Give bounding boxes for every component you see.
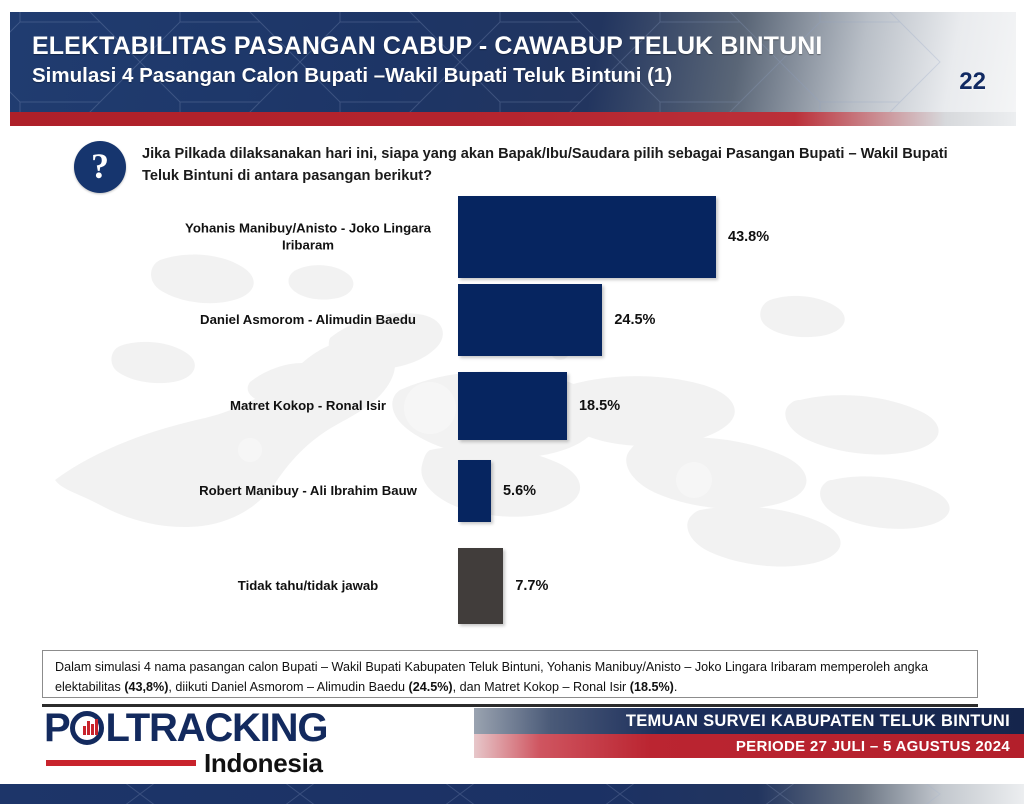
bar bbox=[458, 196, 716, 278]
chart-row: Matret Kokop - Ronal Isir18.5% bbox=[0, 372, 1024, 440]
bar-category-label: Matret Kokop - Ronal Isir bbox=[158, 398, 458, 415]
header-text-block: ELEKTABILITAS PASANGAN CABUP - CAWABUP T… bbox=[32, 32, 822, 89]
bar-chart: Yohanis Manibuy/Anisto - Joko Lingara Ir… bbox=[0, 196, 1024, 646]
note-part-2: , diikuti Daniel Asmorom – Alimudin Baed… bbox=[168, 680, 408, 694]
bar bbox=[458, 372, 567, 440]
footer-period-bar: PERIODE 27 JULI – 5 AGUSTUS 2024 bbox=[474, 734, 1024, 758]
logo-wordmark-rest: LTRACKING bbox=[105, 708, 327, 748]
question-mark-icon: ? bbox=[74, 141, 126, 193]
logo-chart-circle-icon bbox=[70, 711, 104, 745]
chart-row: Daniel Asmorom - Alimudin Baedu24.5% bbox=[0, 284, 1024, 356]
slide-header: ELEKTABILITAS PASANGAN CABUP - CAWABUP T… bbox=[10, 12, 1016, 112]
logo-wordmark: PLTRACKING bbox=[44, 708, 374, 748]
bar-value-label: 43.8% bbox=[728, 229, 769, 245]
footer-survey-title: TEMUAN SURVEI KABUPATEN TELUK BINTUNI bbox=[626, 712, 1010, 731]
footer-survey-period: PERIODE 27 JULI – 5 AGUSTUS 2024 bbox=[736, 738, 1010, 755]
bottom-strip bbox=[0, 784, 1024, 804]
header-red-divider bbox=[10, 112, 1016, 126]
bar-category-label: Daniel Asmorom - Alimudin Baedu bbox=[158, 312, 458, 329]
bar-category-label: Yohanis Manibuy/Anisto - Joko Lingara Ir… bbox=[158, 221, 458, 254]
note-value-1: (43,8%) bbox=[124, 680, 168, 694]
page-number: 22 bbox=[959, 68, 986, 96]
bar-value-label: 7.7% bbox=[515, 578, 548, 594]
bar-value-label: 24.5% bbox=[614, 312, 655, 328]
logo-subline: Indonesia bbox=[44, 750, 374, 776]
bar bbox=[458, 284, 602, 356]
page-title: ELEKTABILITAS PASANGAN CABUP - CAWABUP T… bbox=[32, 32, 822, 60]
slide-canvas: ELEKTABILITAS PASANGAN CABUP - CAWABUP T… bbox=[0, 0, 1024, 804]
chart-row: Tidak tahu/tidak jawab7.7% bbox=[0, 548, 1024, 624]
bar-category-label: Tidak tahu/tidak jawab bbox=[158, 578, 458, 595]
summary-note-box: Dalam simulasi 4 nama pasangan calon Bup… bbox=[42, 650, 978, 698]
page-subtitle: Simulasi 4 Pasangan Calon Bupati –Wakil … bbox=[32, 64, 822, 89]
logo-indonesia-text: Indonesia bbox=[204, 750, 323, 776]
logo-letter-p: P bbox=[44, 708, 69, 748]
poltracking-logo: PLTRACKING Indonesia bbox=[44, 708, 374, 770]
chart-row: Yohanis Manibuy/Anisto - Joko Lingara Ir… bbox=[0, 196, 1024, 278]
bar-value-label: 5.6% bbox=[503, 483, 536, 499]
note-part-4: . bbox=[674, 680, 678, 694]
chart-row: Robert Manibuy - Ali Ibrahim Bauw5.6% bbox=[0, 460, 1024, 522]
question-text: Jika Pilkada dilaksanakan hari ini, siap… bbox=[142, 144, 957, 188]
note-value-2: (24.5%) bbox=[409, 680, 453, 694]
note-value-3: (18.5%) bbox=[630, 680, 674, 694]
note-part-3: , dan Matret Kokop – Ronal Isir bbox=[453, 680, 630, 694]
bar bbox=[458, 460, 491, 522]
footer-survey-title-bar: TEMUAN SURVEI KABUPATEN TELUK BINTUNI bbox=[474, 708, 1024, 734]
bar-value-label: 18.5% bbox=[579, 398, 620, 414]
bar-category-label: Robert Manibuy - Ali Ibrahim Bauw bbox=[158, 483, 458, 500]
logo-red-rule bbox=[46, 760, 196, 766]
bar bbox=[458, 548, 503, 624]
summary-note-text: Dalam simulasi 4 nama pasangan calon Bup… bbox=[55, 658, 965, 697]
bottom-hexagon-pattern-icon bbox=[0, 784, 1024, 804]
